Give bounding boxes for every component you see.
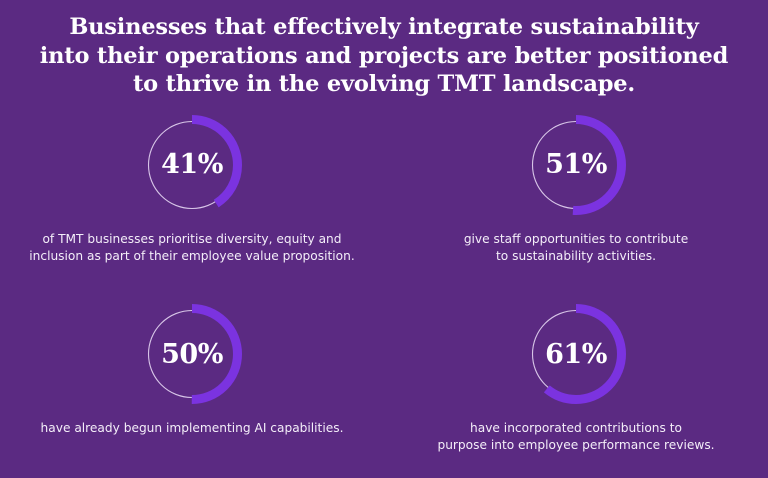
page-title: Businesses that effectively integrate su… [29, 13, 739, 99]
stats-grid: 41% of TMT businesses prioritise diversi… [0, 113, 768, 478]
stat-caption-4: have incorporated contributions to purpo… [411, 420, 741, 454]
stat-value-3: 50% [161, 341, 223, 368]
stat-cell-2: 51% give staff opportunities to contribu… [384, 113, 768, 296]
stat-value-4: 61% [545, 341, 607, 368]
donut-chart-1: 41% [140, 113, 244, 217]
stat-value-2: 51% [545, 151, 607, 178]
stat-caption-2: give staff opportunities to contribute t… [411, 231, 741, 265]
stat-caption-3: have already begun implementing AI capab… [27, 420, 357, 437]
donut-chart-3: 50% [140, 302, 244, 406]
stat-cell-1: 41% of TMT businesses prioritise diversi… [0, 113, 384, 296]
stat-caption-1: of TMT businesses prioritise diversity, … [27, 231, 357, 265]
stat-cell-4: 61% have incorporated contributions to p… [384, 295, 768, 478]
stat-value-1: 41% [161, 151, 223, 178]
stat-cell-3: 50% have already begun implementing AI c… [0, 295, 384, 478]
donut-chart-4: 61% [524, 302, 628, 406]
donut-chart-2: 51% [524, 113, 628, 217]
infographic-panel: Businesses that effectively integrate su… [0, 0, 768, 478]
